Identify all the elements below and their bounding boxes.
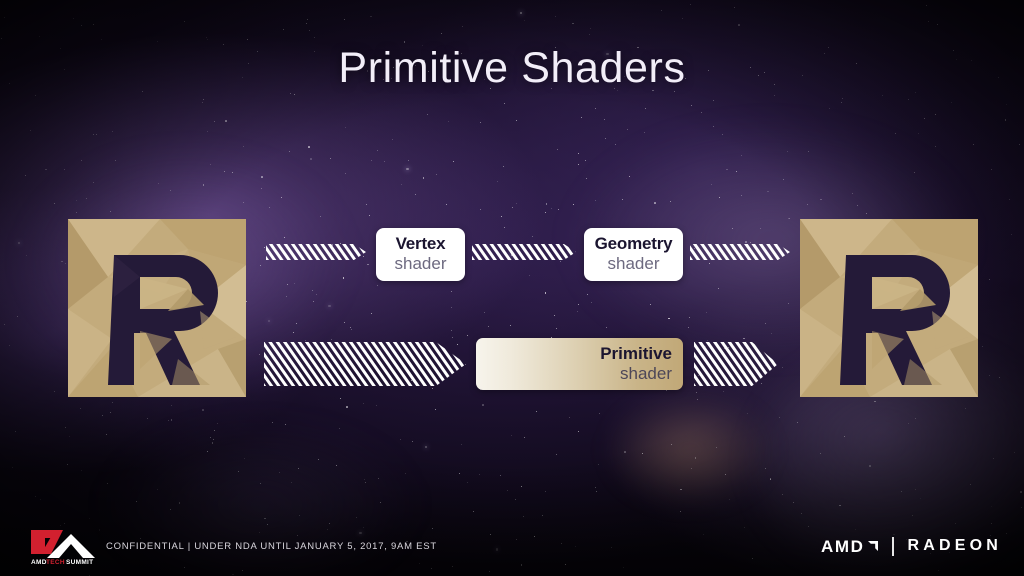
hatched-arrow-wide-icon	[694, 336, 778, 392]
svg-text:AMD: AMD	[31, 559, 47, 566]
hatched-arrow-wide-icon	[264, 336, 466, 392]
hatched-arrow-icon	[472, 240, 576, 264]
confidential-notice: CONFIDENTIAL | UNDER NDA UNTIL JANUARY 5…	[106, 541, 437, 552]
geometry-shader-subtitle: shader	[608, 254, 660, 274]
brand-lockup: AMD RADEON	[821, 533, 1002, 559]
hatched-arrow-icon	[690, 240, 790, 264]
hatched-arrow-icon	[266, 240, 366, 264]
page-title: Primitive Shaders	[0, 44, 1024, 93]
svg-text:SUMMIT: SUMMIT	[66, 559, 93, 566]
amd-arrow-icon	[867, 540, 879, 552]
amd-wordmark: AMD	[821, 538, 865, 555]
amd-tech-summit-logo: AMD TECH SUMMIT	[29, 528, 95, 566]
vertex-shader-box[interactable]: Vertex shader	[376, 228, 465, 281]
primitive-shader-box[interactable]: Primitive shader	[476, 338, 683, 390]
radeon-logo-left	[68, 219, 246, 397]
vertex-shader-subtitle: shader	[395, 254, 447, 274]
geometry-shader-title: Geometry	[595, 234, 673, 254]
vertex-shader-title: Vertex	[396, 234, 446, 254]
radeon-wordmark: RADEON	[907, 538, 1002, 554]
geometry-shader-box[interactable]: Geometry shader	[584, 228, 683, 281]
amd-logo: AMD	[821, 538, 880, 555]
svg-text:TECH: TECH	[46, 559, 65, 566]
radeon-logo-right	[800, 219, 978, 397]
primitive-shader-subtitle: shader	[620, 364, 672, 384]
primitive-shader-title: Primitive	[600, 344, 672, 364]
slide-canvas: Primitive Shaders	[0, 0, 1024, 576]
brand-divider	[892, 537, 894, 556]
